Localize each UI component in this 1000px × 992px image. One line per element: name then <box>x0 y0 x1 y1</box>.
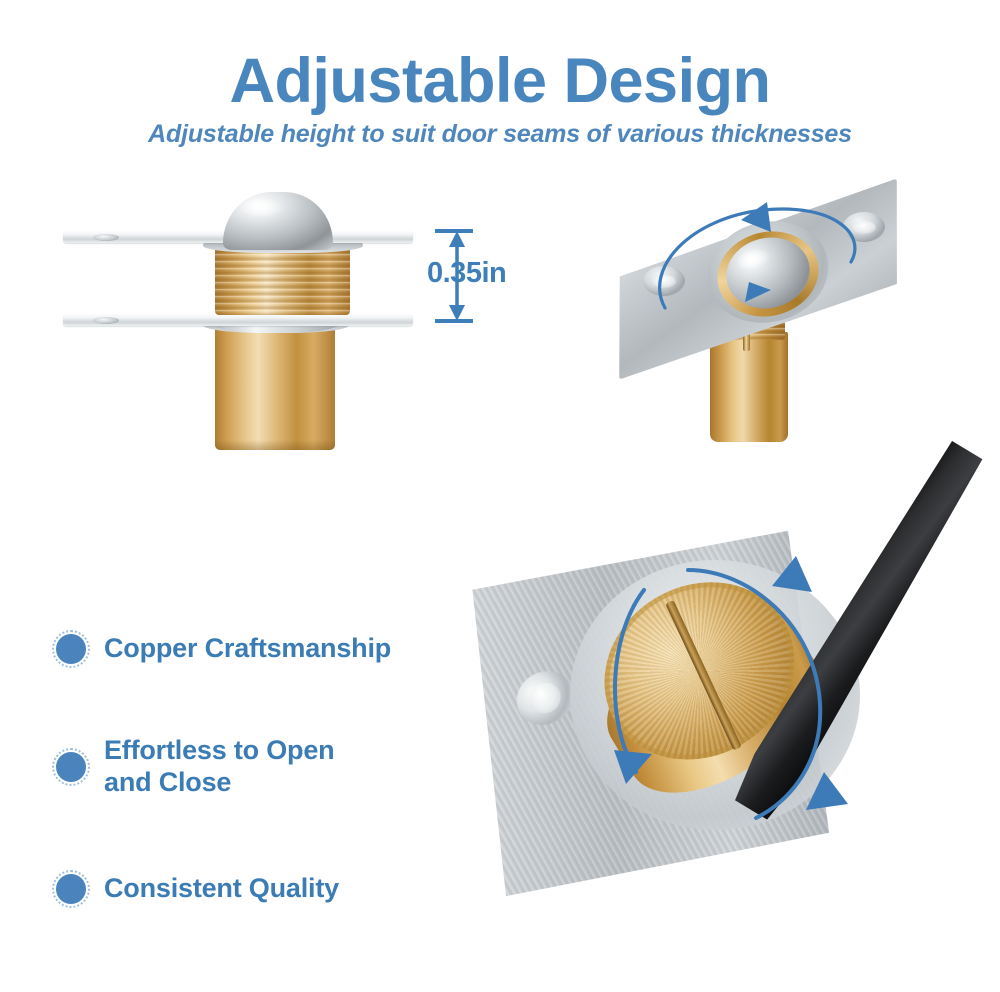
page-subtitle: Adjustable height to suit door seams of … <box>0 120 1000 149</box>
brass-threaded-collar <box>215 247 350 315</box>
bullet-dot-icon <box>52 748 90 786</box>
ball-catch-side-view-figure: 0.35in <box>55 185 415 485</box>
screw-hole-icon <box>93 317 119 324</box>
page-title: Adjustable Design <box>0 48 1000 114</box>
product-infographic: Adjustable Design Adjustable height to s… <box>0 0 1000 956</box>
rotation-arrows-icon <box>420 420 1000 956</box>
dimension-annotation: 0.35in <box>395 225 525 335</box>
ball-catch-adjust-figure <box>420 420 1000 956</box>
brass-barrel <box>215 325 335 450</box>
bullet-dot-icon <box>52 630 90 668</box>
bullet-dot-core <box>56 752 86 782</box>
list-item: Effortless to Open and Close <box>52 735 334 799</box>
list-item: Consistent Quality <box>52 870 339 908</box>
feature-label: Consistent Quality <box>104 873 339 905</box>
feature-label: Effortless to Open and Close <box>104 735 334 799</box>
bullet-dot-core <box>56 874 86 904</box>
list-item: Copper Craftsmanship <box>52 630 391 668</box>
screw-hole-icon <box>93 234 119 241</box>
dimension-label: 0.35in <box>427 257 506 290</box>
feature-label: Copper Craftsmanship <box>104 633 391 665</box>
bullet-dot-core <box>56 634 86 664</box>
chrome-ball-dome <box>223 192 333 250</box>
bullet-dot-icon <box>52 870 90 908</box>
